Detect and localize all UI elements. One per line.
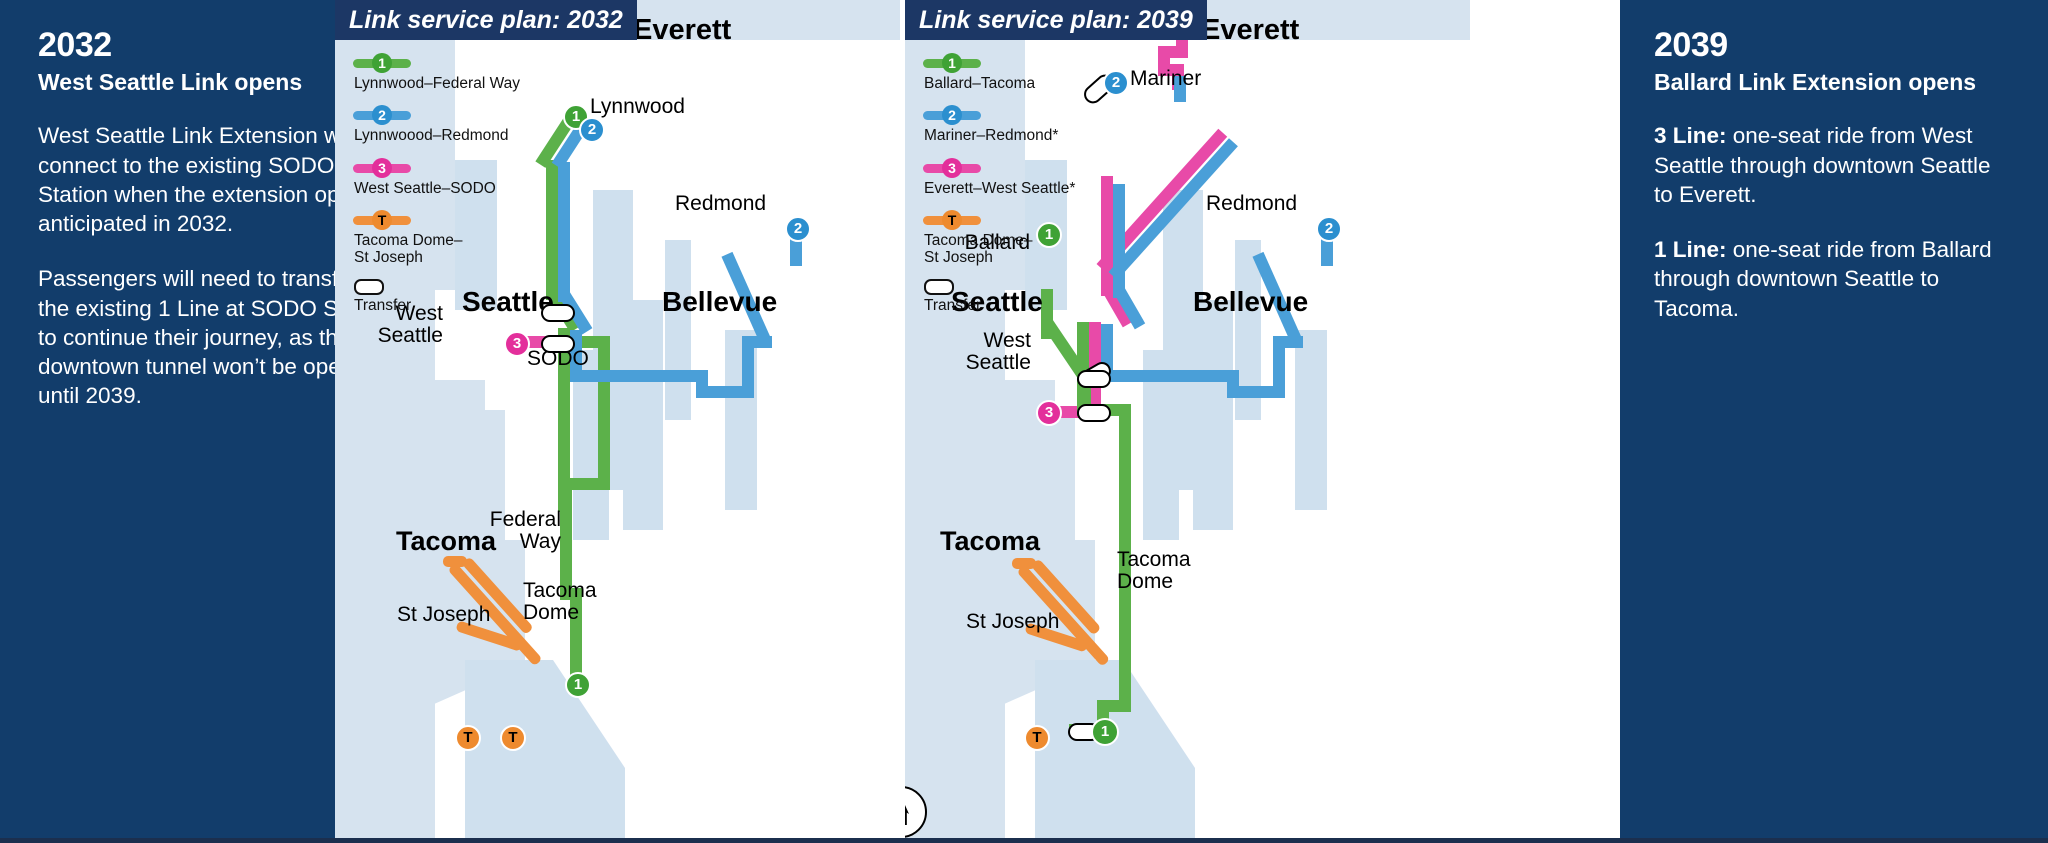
legend-label: Tacoma Dome– St Joseph (924, 232, 1075, 267)
station-badge-lynnwood-2: 2 (579, 117, 605, 143)
map-2032: Link service plan: 2032 1 Lynnwood–Feder… (335, 0, 900, 838)
station-badge-redmond-2: 2 (785, 216, 811, 242)
compass-rose: N (905, 786, 927, 838)
transfer-icon (924, 279, 954, 295)
line-badge-1-icon: 1 (372, 53, 392, 73)
legend-row-transfer: Transfer (353, 279, 520, 314)
city-label-tacoma: Tacoma (396, 526, 496, 557)
station-label-redmond: Redmond (1206, 193, 1297, 215)
legend-row-2: 2 Lynnwoood–Redmond (353, 104, 520, 144)
legend-label: Lynnwoood–Redmond (354, 127, 520, 144)
station-label-st-joseph: St Joseph (397, 604, 490, 626)
water-inlet (665, 240, 691, 420)
station-badge-st-joseph-t: T (455, 725, 481, 751)
water-inlet (1193, 300, 1233, 530)
right-panel-paragraph-1: 3 Line: one-seat ride from West Seattle … (1654, 121, 2014, 209)
line-1-segment (546, 160, 558, 300)
station-badge-tacoma-dome-t: T (500, 725, 526, 751)
legend-label: Mariner–Redmond* (924, 127, 1075, 144)
map-2039-title: Link service plan: 2039 (905, 0, 1207, 40)
right-info-panel: 2039 Ballard Link Extension opens 3 Line… (1620, 0, 2048, 843)
transfer-marker (1077, 404, 1111, 422)
station-badge-redmond-2: 2 (1316, 216, 1342, 242)
line-1-segment (598, 336, 610, 488)
water-inlet (623, 300, 663, 530)
map-2032-title: Link service plan: 2032 (335, 0, 637, 40)
legend-label: Tacoma Dome– St Joseph (354, 232, 520, 267)
legend-row-3: 3 Everett–West Seattle* (923, 157, 1075, 197)
transfer-marker (1077, 370, 1111, 388)
station-label-federal-way: Federal Way (490, 509, 561, 553)
station-badge-west-seattle-3: 3 (504, 331, 530, 357)
station-label-tacoma-dome: Tacoma Dome (1117, 549, 1191, 593)
land-mass (765, 40, 900, 838)
line-1-lead-label: 1 Line: (1654, 237, 1727, 262)
legend-row-1: 1 Ballard–Tacoma (923, 52, 1075, 92)
legend-label: Ballard–Tacoma (924, 75, 1075, 92)
line-3-segment (1101, 176, 1113, 296)
water-inlet (1295, 330, 1327, 510)
station-label-redmond: Redmond (675, 193, 766, 215)
transfer-icon (354, 279, 384, 295)
legend-row-transfer: Transfer (923, 279, 1075, 314)
station-badge-federal-way-1: 1 (565, 672, 591, 698)
city-label-bellevue: Bellevue (662, 286, 777, 318)
line-badge-2-icon: 2 (372, 105, 392, 125)
station-badge-west-seattle-3: 3 (1036, 400, 1062, 426)
line-badge-1-icon: 1 (942, 53, 962, 73)
transfer-marker (541, 304, 575, 322)
station-label-tacoma-dome: Tacoma Dome (523, 580, 597, 624)
line-3-lead-label: 3 Line: (1654, 123, 1727, 148)
station-label-lynnwood: Lynnwood (590, 96, 685, 118)
city-label-bellevue: Bellevue (1193, 286, 1308, 318)
line-badge-t-icon: T (372, 210, 392, 230)
legend-row-t: T Tacoma Dome– St Joseph (923, 209, 1075, 267)
infographic-root: 2032 West Seattle Link opens West Seattl… (0, 0, 2048, 843)
right-panel-year: 2039 (1654, 28, 2014, 64)
map-2039: Link service plan: 2039 1 Ballard–Tacoma… (905, 0, 1470, 838)
line-2-segment (742, 340, 754, 398)
right-panel-paragraph-2: 1 Line: one-seat ride from Ballard throu… (1654, 235, 2014, 323)
line-badge-t-icon: T (942, 210, 962, 230)
station-badge-tacoma-dome-1: 1 (1091, 718, 1119, 746)
station-label-west-seattle: West Seattle (966, 330, 1031, 374)
compass-north-label: N (905, 808, 925, 831)
legend-label: Transfer (354, 297, 520, 314)
city-label-tacoma: Tacoma (940, 526, 1040, 557)
legend-row-2: 2 Mariner–Redmond* (923, 104, 1075, 144)
legend-label: Transfer (924, 297, 1075, 314)
line-2-segment (558, 162, 570, 302)
right-panel-subtitle: Ballard Link Extension opens (1654, 70, 2014, 96)
legend-label: West Seattle–SODO (354, 180, 520, 197)
line-badge-2-icon: 2 (942, 105, 962, 125)
line-badge-3-icon: 3 (942, 158, 962, 178)
legend-label: Lynnwood–Federal Way (354, 75, 520, 92)
line-badge-3-icon: 3 (372, 158, 392, 178)
line-2-segment (1101, 370, 1239, 382)
line-2-segment (570, 370, 708, 382)
legend-row-t: T Tacoma Dome– St Joseph (353, 209, 520, 267)
legend-row-1: 1 Lynnwood–Federal Way (353, 52, 520, 92)
city-label-everett: Everett (633, 14, 731, 47)
map-2039-legend: 1 Ballard–Tacoma 2 Mariner–Redmond* 3 Ev… (923, 52, 1075, 326)
line-2-segment (1113, 184, 1125, 298)
map-2032-legend: 1 Lynnwood–Federal Way 2 Lynnwoood–Redmo… (353, 52, 520, 326)
line-2-segment (1273, 340, 1285, 398)
legend-label: Everett–West Seattle* (924, 180, 1075, 197)
station-badge-mariner-2: 2 (1103, 70, 1129, 96)
city-label-everett: Everett (1201, 14, 1299, 47)
bottom-frame-bar (0, 838, 2048, 843)
line-t-segment (443, 556, 467, 567)
station-label-mariner: Mariner (1130, 68, 1201, 90)
legend-row-3: 3 West Seattle–SODO (353, 157, 520, 197)
station-label-st-joseph: St Joseph (966, 611, 1059, 633)
line-t-segment (1012, 558, 1036, 569)
land-mass (1335, 40, 1470, 838)
transfer-marker (541, 335, 575, 353)
station-badge-st-joseph-t: T (1024, 725, 1050, 751)
